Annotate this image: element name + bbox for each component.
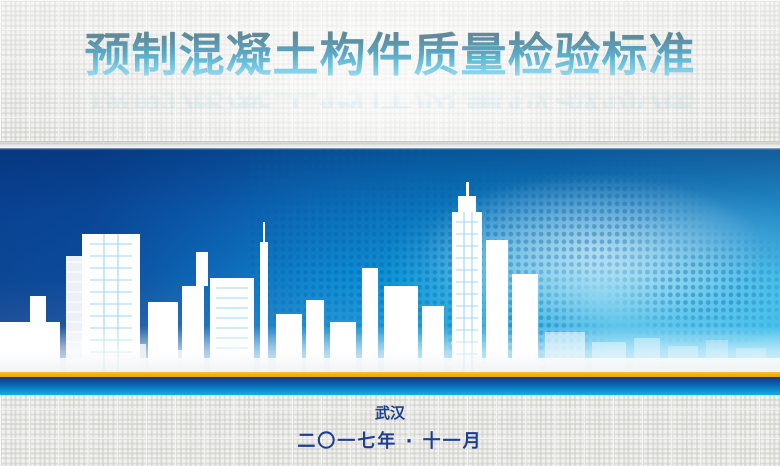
hero-banner [0, 148, 780, 372]
slide-header: 预制混凝土构件质量检验标准 预制混凝土构件质量检验标准 [0, 0, 780, 146]
city-skyline-icon [0, 182, 780, 372]
banner-top-highlight [0, 148, 780, 150]
footer-city: 武汉 [0, 403, 780, 423]
page-title-reflection: 预制混凝土构件质量检验标准 [0, 82, 780, 108]
page-title-reflection-text: 预制混凝土构件质量检验标准 [0, 82, 780, 108]
blue-accent-stripe [0, 377, 780, 395]
page-title: 预制混凝土构件质量检验标准 [0, 26, 780, 84]
page-title-container: 预制混凝土构件质量检验标准 [0, 26, 780, 84]
slide-footer: 武汉 二〇一七年 · 十一月 [0, 398, 780, 466]
footer-date: 二〇一七年 · 十一月 [0, 430, 780, 454]
title-slide: 预制混凝土构件质量检验标准 预制混凝土构件质量检验标准 [0, 0, 780, 466]
